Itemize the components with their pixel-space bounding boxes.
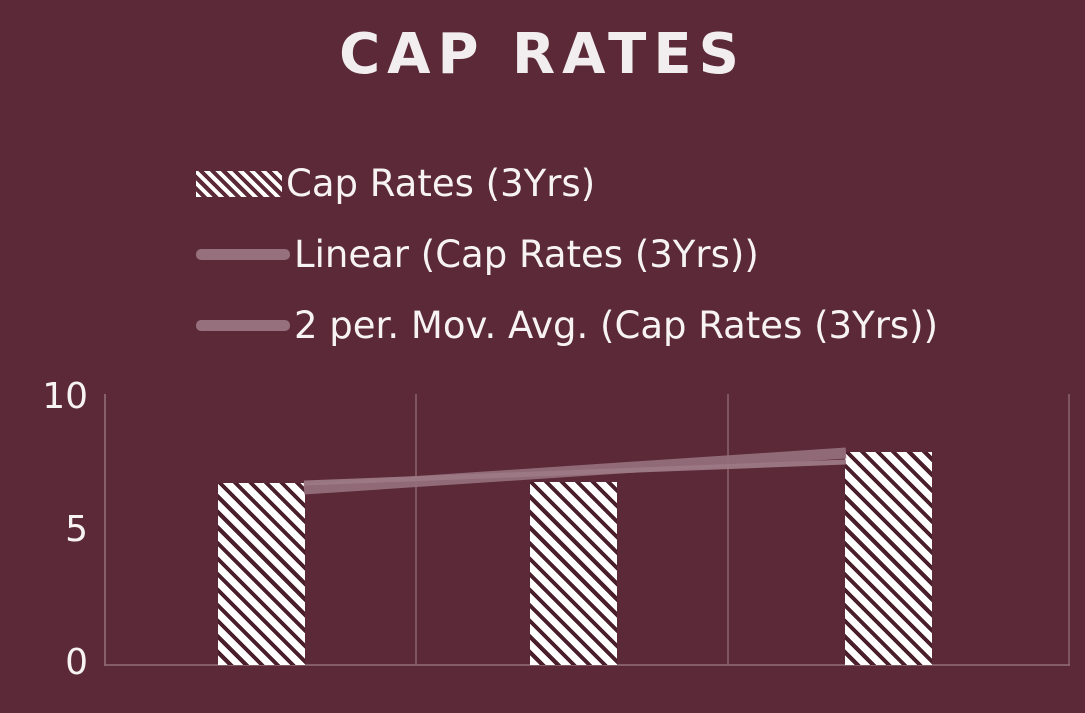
bar-category-3[interactable] <box>845 452 932 665</box>
plot-area: 10 5 0 <box>0 0 1085 713</box>
y-axis-line <box>104 394 106 666</box>
cap-rates-chart: CAP RATES Cap Rates (3Yrs) Linear (Cap R… <box>0 0 1085 713</box>
moving-average-line <box>304 462 846 483</box>
gridline-vertical <box>1068 394 1070 665</box>
y-axis: 10 5 0 <box>0 0 88 713</box>
bar-category-1[interactable] <box>218 483 305 665</box>
gridline-vertical <box>415 394 417 665</box>
y-tick-label: 5 <box>0 512 88 548</box>
gridline-vertical <box>727 394 729 665</box>
y-tick-label: 0 <box>0 645 88 681</box>
bar-category-2[interactable] <box>530 482 617 665</box>
y-tick-label: 10 <box>0 379 88 415</box>
